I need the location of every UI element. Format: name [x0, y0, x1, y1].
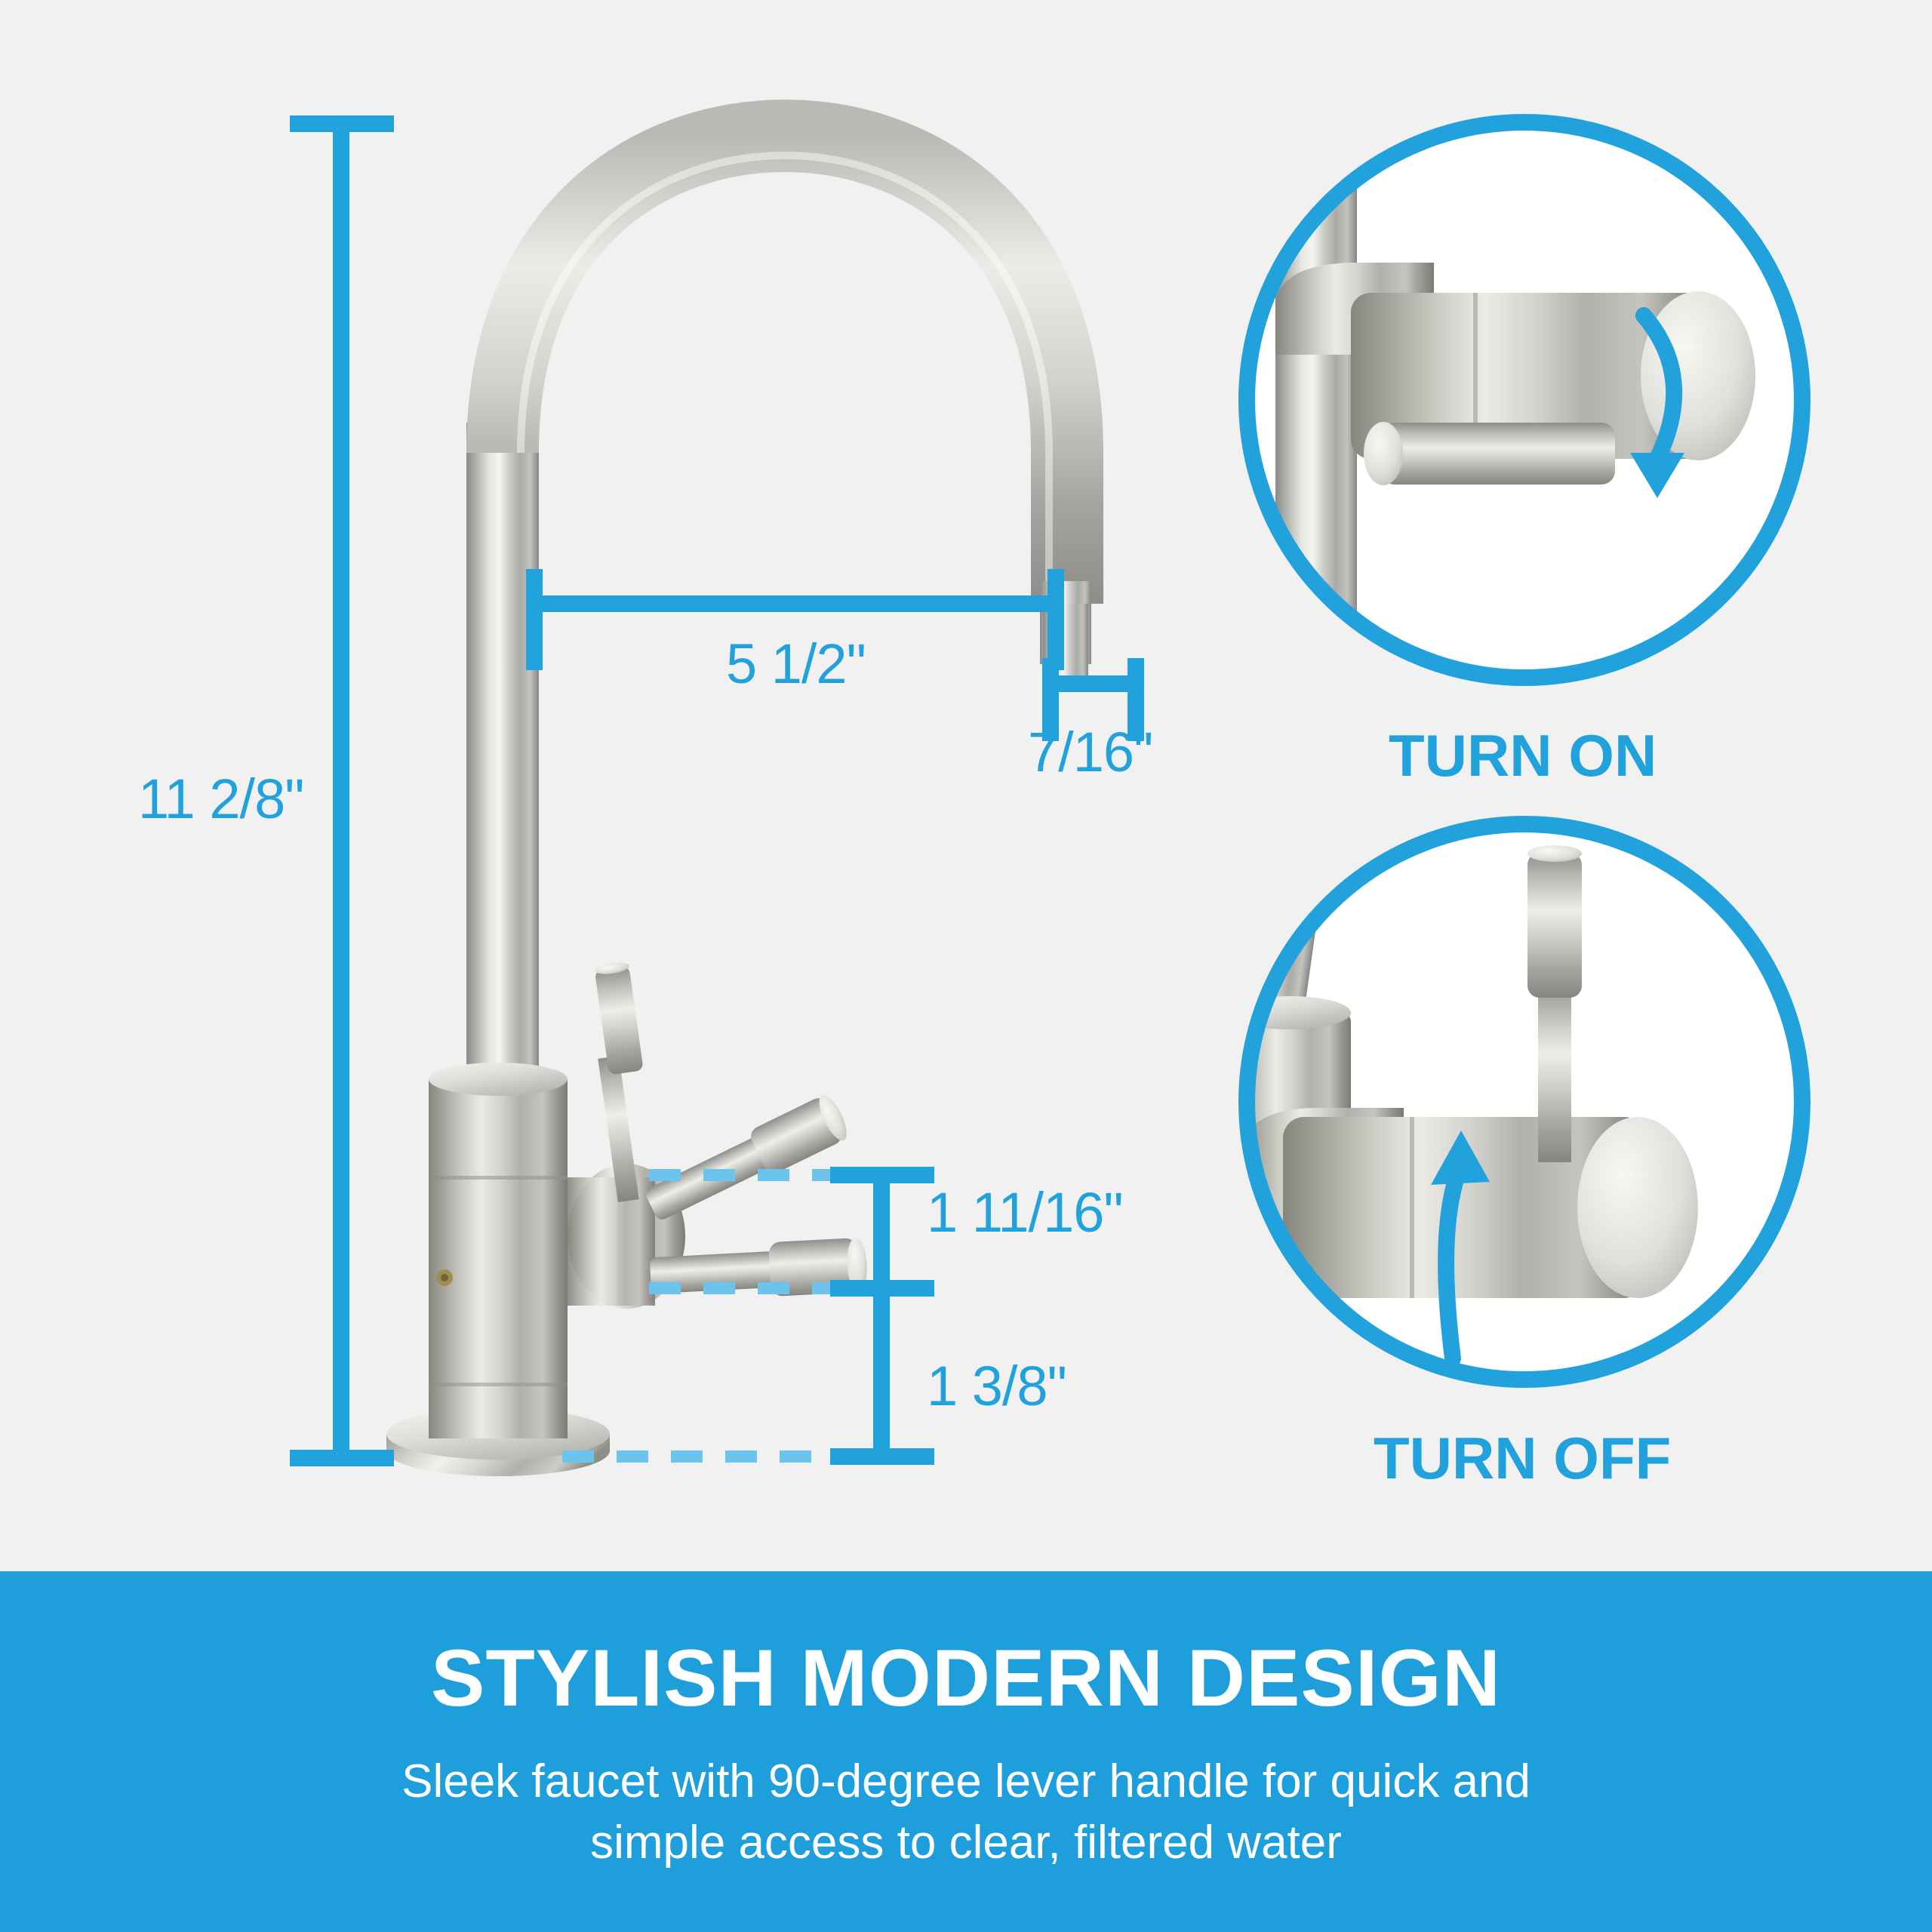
inset-caption-turn-on: TURN ON [1389, 726, 1657, 785]
dim-height-cap-bottom [290, 1450, 394, 1466]
dim-base-line [873, 1288, 890, 1465]
dim-height-line [333, 115, 349, 1466]
dim-base-cap-bottom [830, 1448, 934, 1465]
inset-off-lever-grip [1527, 853, 1582, 998]
faucet-diagram-area: 11 2/8" 5 1/2" 7/16" 1 11/16" 1 3/8" TUR… [0, 0, 1932, 1571]
inset-turn-off [1225, 811, 1811, 1389]
product-infographic: 11 2/8" 5 1/2" 7/16" 1 11/16" 1 3/8" TUR… [0, 0, 1932, 1932]
faucet-base-body [429, 1079, 568, 1390]
banner-subtitle-line-2: simple access to clear, filtered water [401, 1813, 1531, 1874]
faucet-base-collar [429, 1386, 568, 1438]
dimension-label-base-height: 1 3/8" [927, 1358, 1066, 1414]
feature-banner: STYLISH MODERN DESIGN Sleek faucet with … [0, 1571, 1932, 1932]
inset-on-end-cap [1641, 291, 1755, 460]
banner-subtitle-line-1: Sleek faucet with 90-degree lever handle… [401, 1752, 1531, 1813]
dimension-label-handle-height: 1 11/16" [927, 1185, 1123, 1241]
banner-subtitle: Sleek faucet with 90-degree lever handle… [401, 1752, 1531, 1873]
faucet-body-seam-lower [429, 1383, 568, 1386]
inset-off-barrel-seam [1410, 1117, 1414, 1298]
faucet-gooseneck-arc [503, 136, 1067, 604]
faucet-set-screw-hole [441, 1274, 448, 1281]
dimension-label-spout-outlet: 7/16" [1028, 724, 1152, 780]
dim-handle-line [873, 1167, 890, 1297]
dim-reach-cap-right [1048, 569, 1064, 670]
faucet-body-seam-upper [429, 1176, 568, 1180]
dim-handle-cap-top [830, 1167, 934, 1183]
inset-off-lever-cap [1527, 845, 1582, 862]
faucet-valve-hub-body [568, 1177, 655, 1306]
inset-off-end-cap [1577, 1117, 1698, 1298]
dim-reach-cap-left [526, 569, 543, 670]
faucet-base-top-cap [429, 1063, 568, 1096]
dimension-label-overall-height: 11 2/8" [138, 771, 304, 827]
dimension-label-spout-reach: 5 1/2" [726, 636, 866, 692]
faucet-riser-tube [466, 423, 539, 1087]
inset-on-lever [1381, 423, 1615, 485]
inset-on-lever-cap [1364, 422, 1403, 485]
inset-off-collar-top [1230, 996, 1351, 1029]
faucet-illustration [386, 136, 1091, 1476]
faucet-upper-lever [640, 1091, 852, 1229]
inset-turn-on [1238, 113, 1811, 687]
dim-height-cap-top [290, 115, 394, 132]
inset-off-lever-stem [1538, 981, 1571, 1162]
dim-reach-line [526, 595, 1064, 612]
inset-caption-turn-off: TURN OFF [1374, 1429, 1671, 1487]
banner-title: STYLISH MODERN DESIGN [431, 1638, 1501, 1718]
